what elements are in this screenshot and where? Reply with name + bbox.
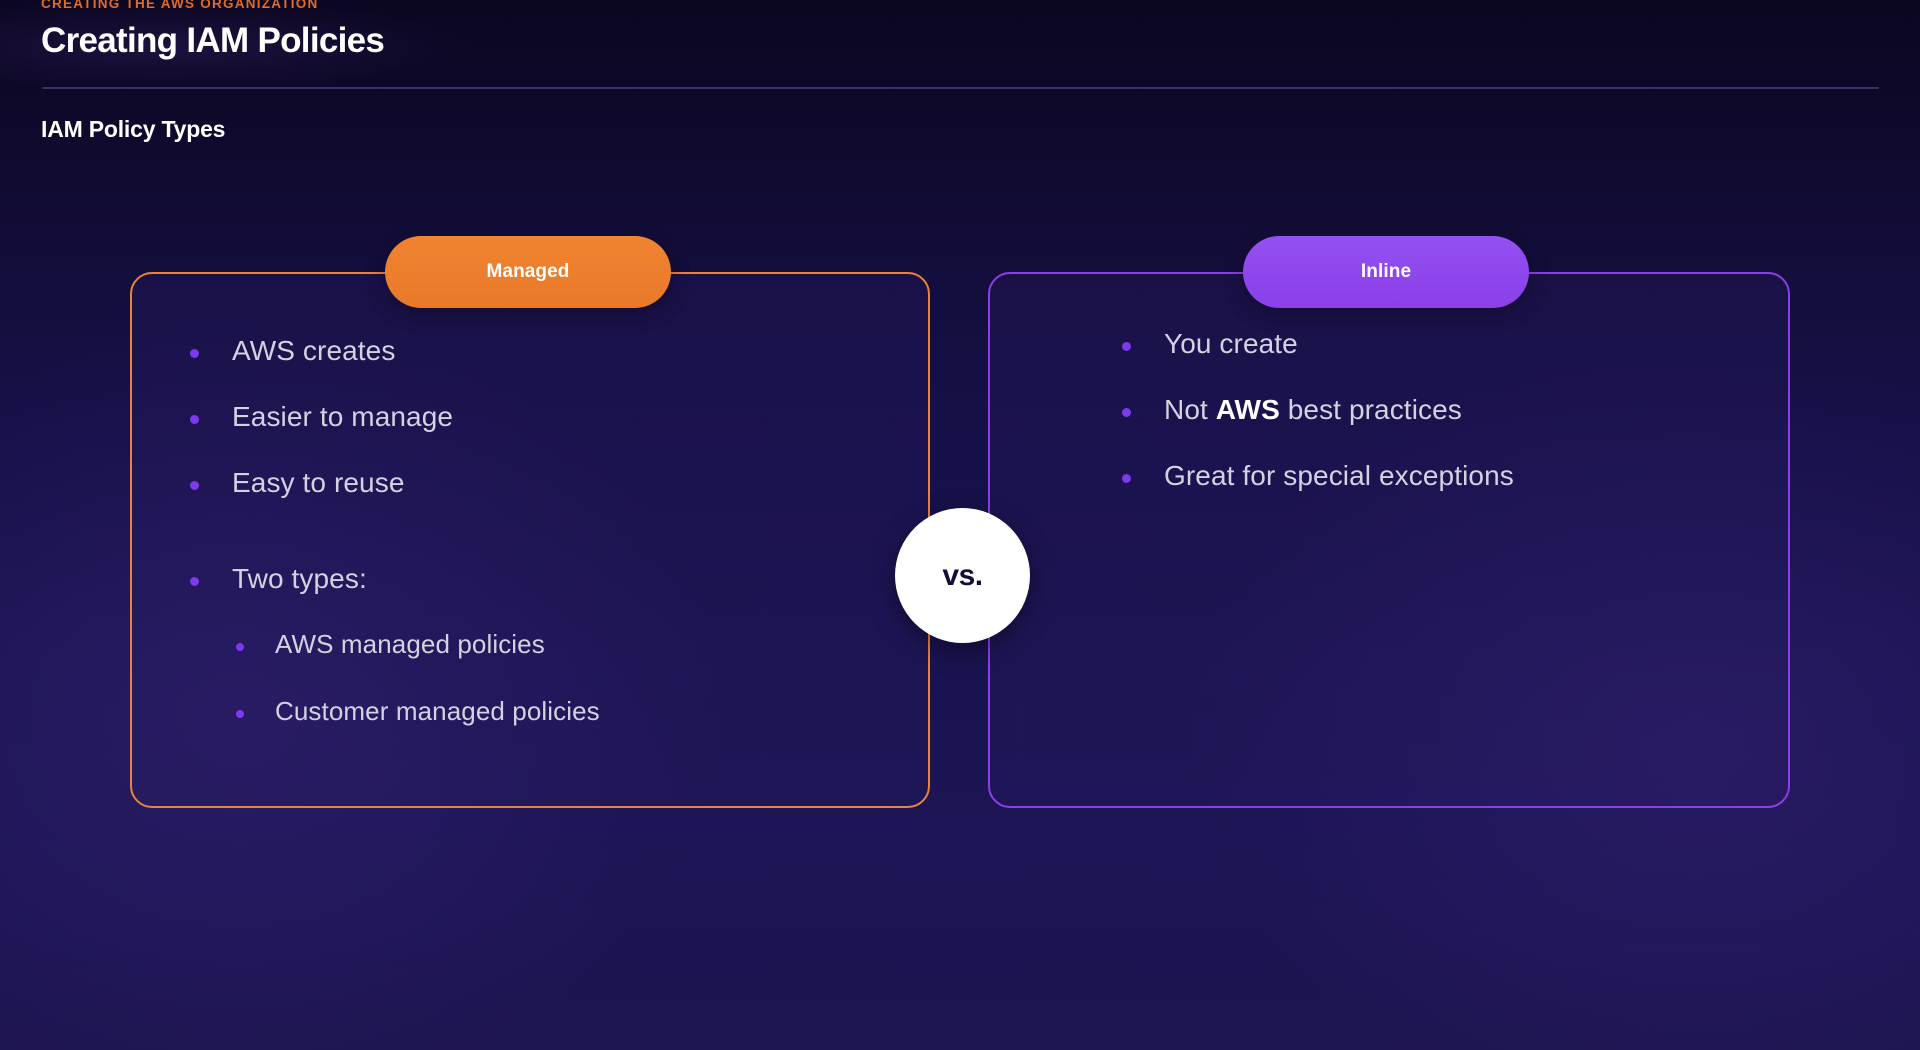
bullet-text: Great for special exceptions	[1164, 459, 1514, 493]
bullet-text: AWS creates	[232, 334, 395, 368]
versus-badge: vs.	[895, 508, 1030, 643]
bullet-item: You create	[1122, 327, 1812, 361]
bullet-item: Great for special exceptions	[1122, 459, 1812, 493]
bullet-dot-icon	[1122, 342, 1131, 351]
bullet-text: You create	[1164, 327, 1298, 361]
bullet-text: Not AWS best practices	[1164, 393, 1462, 427]
bullet-dot-icon	[1122, 474, 1131, 483]
bullet-dot-icon	[190, 481, 199, 490]
bullet-item: AWS managed policies	[236, 629, 890, 661]
bullet-dot-icon	[190, 577, 199, 586]
bullet-item: Not AWS best practices	[1122, 393, 1812, 427]
bullet-text: Customer managed policies	[275, 696, 600, 728]
managed-bullet-list: AWS createsEasier to manageEasy to reuse…	[190, 334, 890, 764]
bullet-dot-icon	[190, 349, 199, 358]
bullet-dot-icon	[190, 415, 199, 424]
eyebrow-label: CREATING THE AWS ORGANIZATION	[41, 0, 319, 11]
bullet-text: Easy to reuse	[232, 466, 405, 500]
bullet-item: Customer managed policies	[236, 696, 890, 728]
bullet-text: AWS managed policies	[275, 629, 545, 661]
bullet-item: AWS creates	[190, 334, 890, 368]
bullet-text: Easier to manage	[232, 400, 453, 434]
bullet-item: Easy to reuse	[190, 466, 890, 500]
bullet-dot-icon	[236, 710, 244, 718]
bullet-item: Easier to manage	[190, 400, 890, 434]
bullet-text: Two types:	[232, 562, 367, 596]
bullet-dot-icon	[236, 643, 244, 651]
bullet-item: Two types:	[190, 562, 890, 596]
bullet-dot-icon	[1122, 408, 1131, 417]
policy-type-comparison: Managed Inline vs. AWS createsEasier to …	[0, 0, 1920, 1050]
inline-pill-label: Inline	[1243, 236, 1529, 308]
inline-bullet-list: You createNot AWS best practicesGreat fo…	[1122, 327, 1812, 525]
managed-pill-label: Managed	[385, 236, 671, 308]
section-title: IAM Policy Types	[41, 116, 225, 143]
header-divider	[42, 87, 1879, 89]
bullet-text-emphasis: AWS	[1216, 394, 1280, 425]
page-title: Creating IAM Policies	[41, 21, 384, 61]
